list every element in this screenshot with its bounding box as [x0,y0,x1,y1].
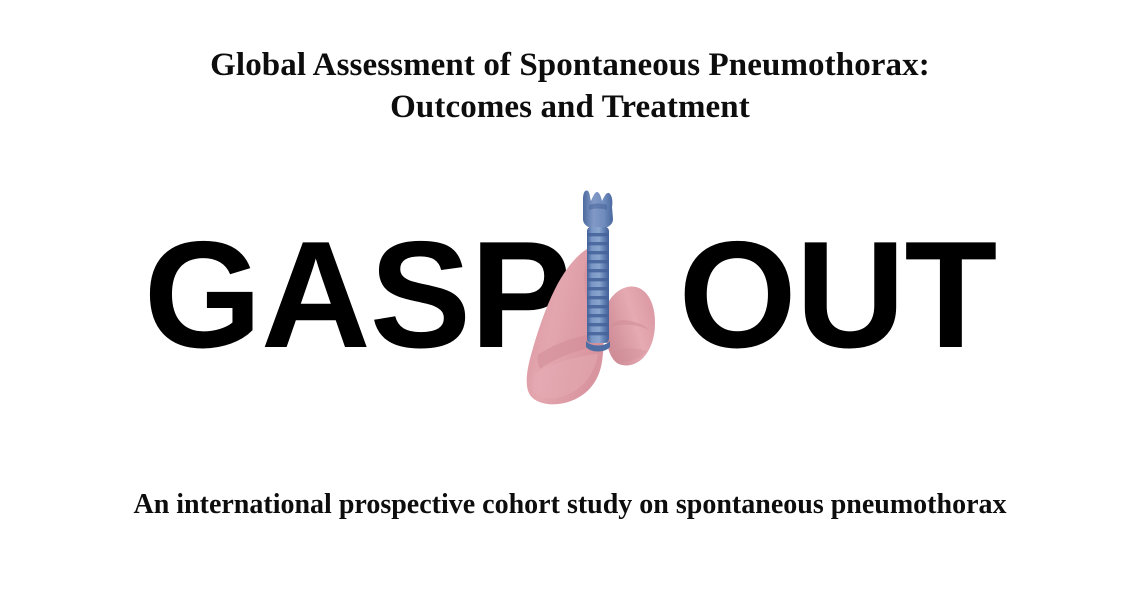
logo-wordmark-row: GASP OUT [0,175,1140,415]
poster-canvas: Global Assessment of Spontaneous Pneumot… [0,0,1140,590]
study-title-line-2: Outcomes and Treatment [0,86,1140,128]
logo-wordmark-gasp: GASP [144,219,571,371]
study-subtitle-text: An international prospective cohort stud… [0,487,1140,523]
study-subtitle: An international prospective cohort stud… [0,487,1140,523]
logo-wordmark-out: OUT [678,219,996,371]
logo-artwork-gap [570,295,678,296]
gasp-out-logo: GASP OUT [0,175,1140,415]
study-title: Global Assessment of Spontaneous Pneumot… [0,44,1140,128]
study-title-line-1: Global Assessment of Spontaneous Pneumot… [0,44,1140,86]
